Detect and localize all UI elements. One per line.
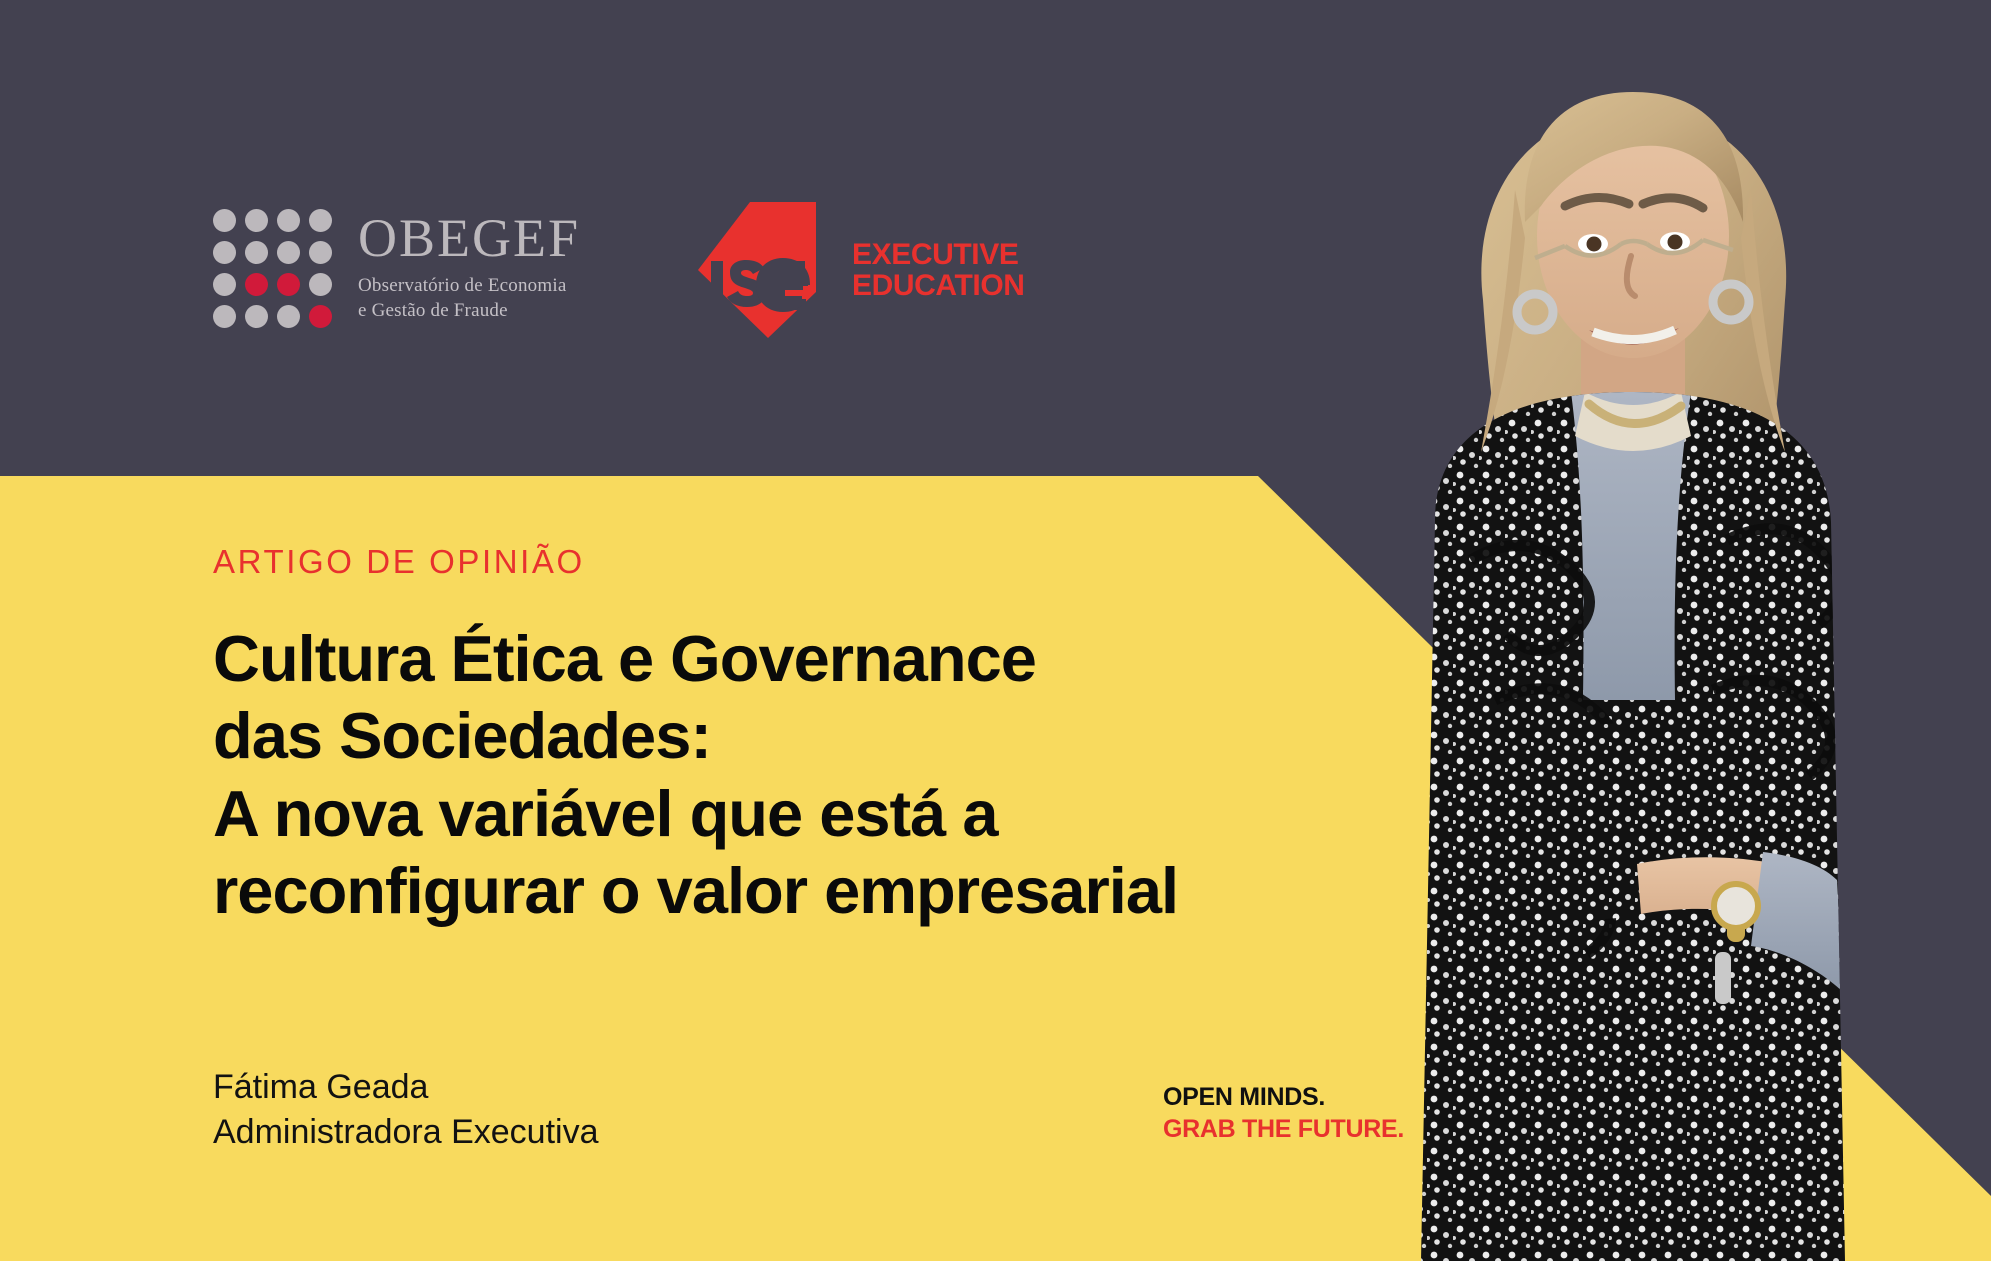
iseg-tagline: OPEN MINDS. GRAB THE FUTURE. xyxy=(1163,1082,1404,1145)
obegef-subtitle-line2: e Gestão de Fraude xyxy=(358,300,508,321)
headline-line-3: A nova variável que está a xyxy=(213,775,1463,852)
dot-r3c2 xyxy=(245,273,268,296)
dot-r4c4 xyxy=(309,305,332,328)
tagline-line-1: OPEN MINDS. xyxy=(1163,1082,1404,1114)
dot-r3c3 xyxy=(277,273,300,296)
dot-r4c3 xyxy=(277,305,300,328)
obegef-dot-grid-icon xyxy=(213,209,332,328)
obegef-wordmark: OBEGEF Observatório de Economia e Gestão… xyxy=(358,211,580,325)
author-byline: Fátima Geada Administradora Executiva xyxy=(213,1065,599,1155)
article-text-block: ARTIGO DE OPINIÃO Cultura Ética e Govern… xyxy=(213,545,1463,929)
author-role: Administradora Executiva xyxy=(213,1110,599,1155)
article-headline: Cultura Ética e Governance das Sociedade… xyxy=(213,620,1463,929)
iseg-logo[interactable]: EXECUTIVE EDUCATION xyxy=(694,200,1025,340)
logo-row: OBEGEF Observatório de Economia e Gestão… xyxy=(213,196,1025,340)
dot-r2c2 xyxy=(245,241,268,264)
obegef-name: OBEGEF xyxy=(358,211,580,265)
dot-r4c1 xyxy=(213,305,236,328)
dot-r2c4 xyxy=(309,241,332,264)
dot-r2c1 xyxy=(213,241,236,264)
tagline-line-2: GRAB THE FUTURE. xyxy=(1163,1114,1404,1146)
dot-r4c2 xyxy=(245,305,268,328)
dot-r1c4 xyxy=(309,209,332,232)
obegef-subtitle: Observatório de Economia e Gestão de Fra… xyxy=(358,274,580,323)
opinion-article-banner: OBEGEF Observatório de Economia e Gestão… xyxy=(0,0,1991,1261)
dot-r3c4 xyxy=(309,273,332,296)
obegef-logo[interactable]: OBEGEF Observatório de Economia e Gestão… xyxy=(213,209,580,328)
author-name: Fátima Geada xyxy=(213,1065,599,1110)
iseg-executive-education-wordmark: EXECUTIVE EDUCATION xyxy=(852,239,1025,301)
headline-line-4: reconfigurar o valor empresarial xyxy=(213,852,1463,929)
article-kicker: ARTIGO DE OPINIÃO xyxy=(213,545,1463,578)
dot-r1c2 xyxy=(245,209,268,232)
iseg-line-executive: EXECUTIVE xyxy=(852,239,1025,270)
dot-r2c3 xyxy=(277,241,300,264)
headline-line-2: das Sociedades: xyxy=(213,697,1463,774)
obegef-subtitle-line1: Observatório de Economia xyxy=(358,275,566,296)
iseg-pentagon-icon xyxy=(694,200,832,340)
dot-r1c1 xyxy=(213,209,236,232)
iseg-line-education: EDUCATION xyxy=(852,270,1025,301)
dot-r1c3 xyxy=(277,209,300,232)
headline-line-1: Cultura Ética e Governance xyxy=(213,620,1463,697)
dot-r3c1 xyxy=(213,273,236,296)
